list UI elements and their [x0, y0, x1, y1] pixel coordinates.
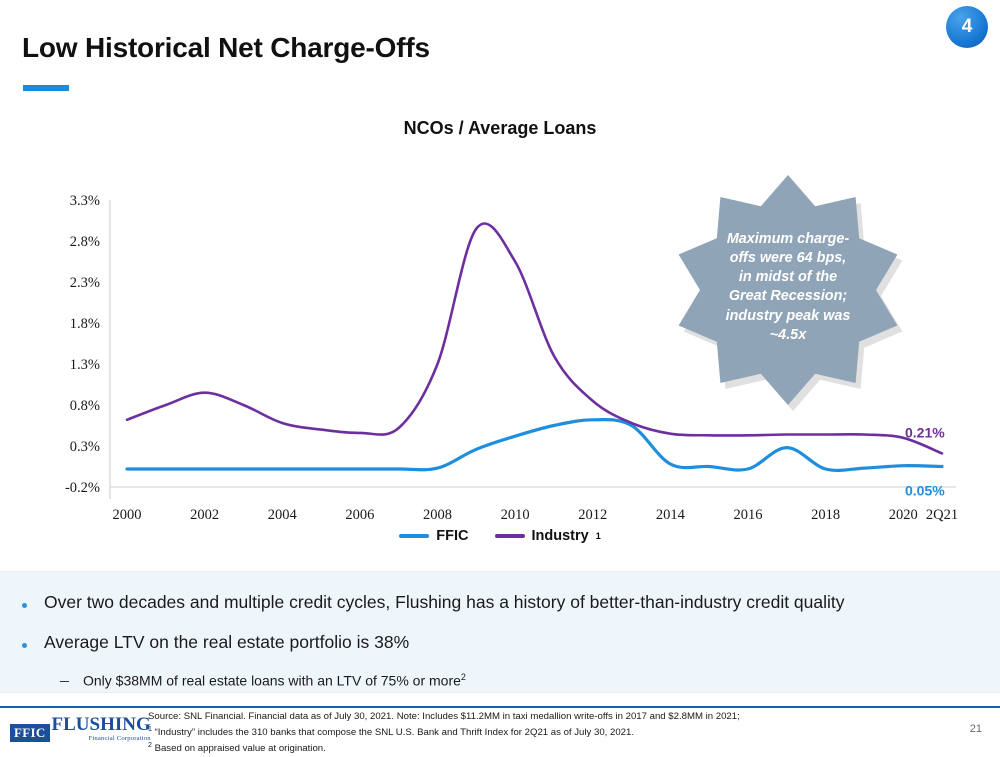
callout-line-3: Great Recession; [688, 287, 888, 306]
svg-text:1.3%: 1.3% [70, 357, 100, 373]
svg-text:2018: 2018 [811, 507, 840, 523]
svg-text:2000: 2000 [113, 507, 142, 523]
bullet-item-1: Over two decades and multiple credit cyc… [22, 592, 845, 613]
svg-text:2016: 2016 [733, 507, 762, 523]
slide-number-badge: 4 [946, 6, 988, 48]
callout-line-0: Maximum charge- [688, 230, 888, 249]
bullet-footnote-marker: 2 [461, 672, 466, 682]
callout-line-4: industry peak was [688, 307, 888, 326]
logo-mark-ffic: FFIC [10, 724, 50, 742]
footnote-0: Source: SNL Financial. Financial data as… [148, 709, 868, 725]
callout-line-5: ~4.5x [688, 326, 888, 345]
bullet-dot-icon [22, 603, 27, 608]
svg-text:2.3%: 2.3% [70, 275, 100, 291]
bullet-dot-icon [22, 643, 27, 648]
svg-text:2.8%: 2.8% [70, 234, 100, 250]
legend-swatch-industry [495, 534, 525, 538]
chart-legend: FFIC Industry1 [0, 528, 1000, 544]
callout-line-1: offs were 64 bps, [688, 249, 888, 268]
svg-text:2020: 2020 [889, 507, 918, 523]
bullet-text-1: Over two decades and multiple credit cyc… [44, 592, 845, 613]
svg-text:0.05%: 0.05% [905, 483, 945, 499]
svg-text:2012: 2012 [578, 507, 607, 523]
bullet-dash-icon [60, 681, 69, 682]
callout-starburst-text: Maximum charge- offs were 64 bps, in mid… [688, 230, 888, 345]
company-logo: FFIC FLUSHING Financial Corporation [10, 716, 151, 742]
svg-text:2010: 2010 [501, 507, 530, 523]
footnote-1: 1 “Industry” includes the 310 banks that… [148, 725, 868, 741]
svg-text:2008: 2008 [423, 507, 452, 523]
svg-text:2Q21: 2Q21 [926, 507, 958, 523]
bullet-item-2: Average LTV on the real estate portfolio… [22, 632, 409, 653]
bullet-text-2: Average LTV on the real estate portfolio… [44, 632, 409, 653]
svg-text:0.8%: 0.8% [70, 398, 100, 414]
legend-footnote-marker: 1 [596, 531, 601, 541]
svg-text:2002: 2002 [190, 507, 219, 523]
svg-text:0.21%: 0.21% [905, 424, 945, 440]
slide: 4 Low Historical Net Charge-Offs NCOs / … [0, 0, 1000, 750]
bullet-text-3: Only $38MM of real estate loans with an … [83, 672, 466, 689]
legend-swatch-ffic [399, 534, 429, 538]
key-points-panel: Over two decades and multiple credit cyc… [0, 571, 1000, 693]
callout-line-2: in midst of the [688, 268, 888, 287]
svg-text:0.3%: 0.3% [70, 439, 100, 455]
svg-text:2004: 2004 [268, 507, 298, 523]
legend-item-industry[interactable]: Industry1 [495, 528, 601, 544]
page-number: 21 [970, 723, 982, 735]
svg-text:3.3%: 3.3% [70, 193, 100, 209]
bullet-item-3: Only $38MM of real estate loans with an … [60, 672, 466, 689]
legend-label-ffic: FFIC [436, 528, 468, 544]
page-title: Low Historical Net Charge-Offs [22, 32, 430, 64]
svg-text:-0.2%: -0.2% [65, 480, 100, 496]
footnote-2: 2 Based on appraised value at originatio… [148, 741, 868, 757]
svg-text:1.8%: 1.8% [70, 316, 100, 332]
ncos-line-chart: 3.3%2.8%2.3%1.8%1.3%0.8%0.3%-0.2%2000200… [0, 150, 1000, 560]
chart-title: NCOs / Average Loans [0, 118, 1000, 139]
legend-item-ffic[interactable]: FFIC [399, 528, 468, 544]
footer-divider [0, 706, 1000, 708]
legend-label-industry: Industry [532, 528, 589, 544]
svg-text:2006: 2006 [345, 507, 374, 523]
title-underline-rule [23, 85, 69, 91]
chart-area: 3.3%2.8%2.3%1.8%1.3%0.8%0.3%-0.2%2000200… [0, 150, 1000, 560]
svg-text:2014: 2014 [656, 507, 686, 523]
logo-wordmark: FLUSHING [52, 714, 151, 735]
logo-tagline: Financial Corporation [52, 735, 151, 742]
